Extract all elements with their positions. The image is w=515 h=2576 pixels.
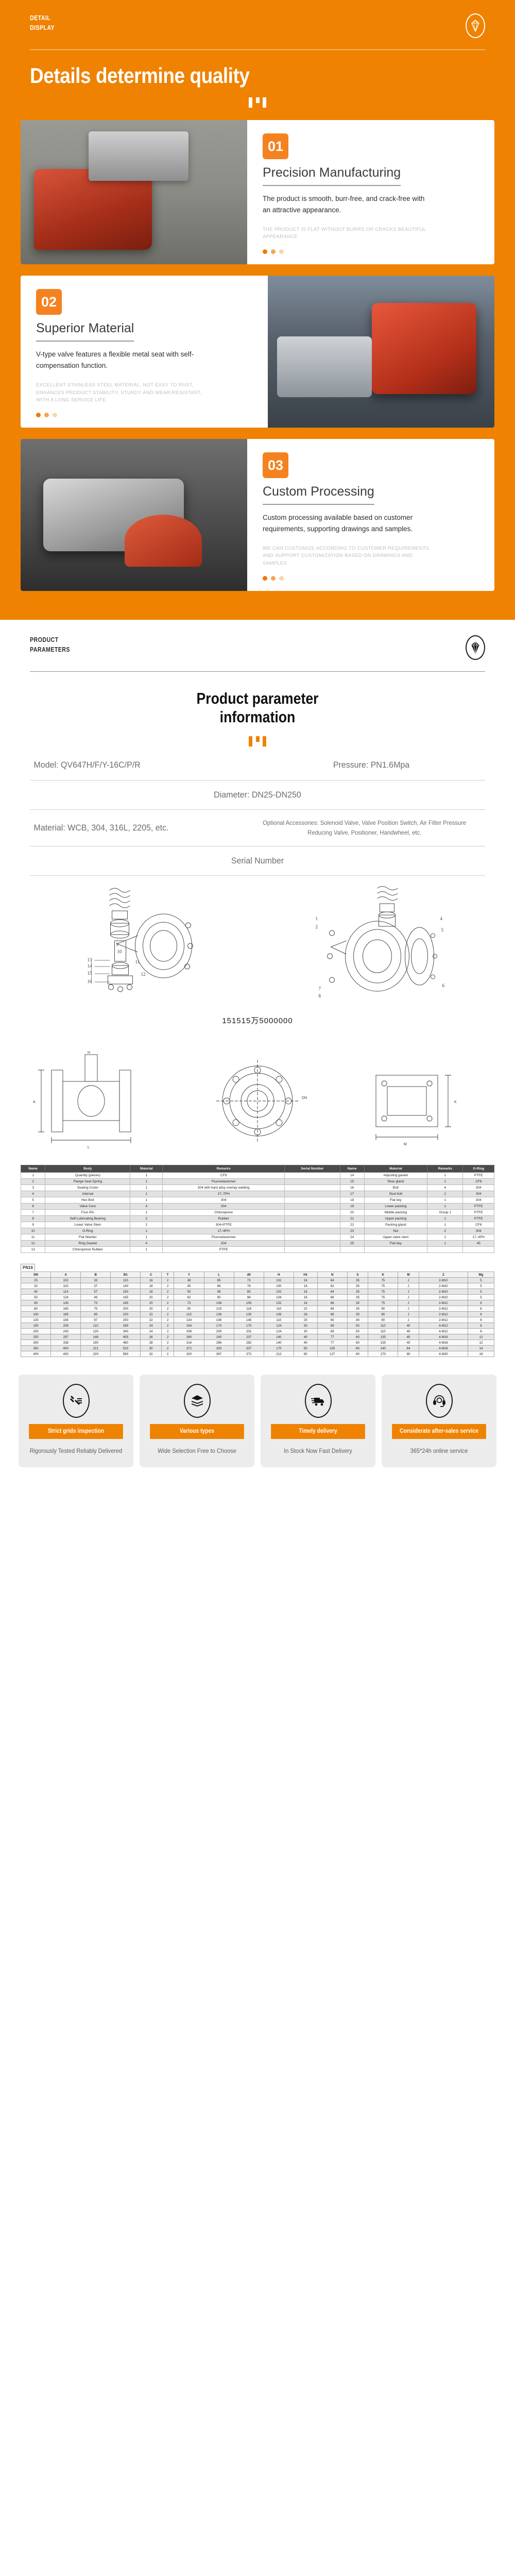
table-cell: 102 (51, 1283, 81, 1289)
table-row: 1Quantity (pieces)1CF814Adjusting gasket… (21, 1173, 494, 1179)
table-cell: 164 (174, 1323, 204, 1329)
table-row: 11Flat Washer1Fluoroelastomer24Upper val… (21, 1234, 494, 1241)
service-subtext: Wide Selection Free to Choose (149, 1446, 245, 1456)
table-cell: 1 (427, 1222, 463, 1228)
dimension-col-header: B (81, 1272, 111, 1278)
table-cell: 40 (21, 1289, 51, 1295)
table-cell: 304 (463, 1185, 494, 1191)
table-cell: J (398, 1312, 419, 1317)
svg-text:6: 6 (442, 983, 445, 988)
table-cell: CF8 (463, 1222, 494, 1228)
table-cell: 5 (468, 1283, 494, 1289)
table-cell: Rear gland (364, 1179, 427, 1185)
table-cell: 12 (468, 1334, 494, 1340)
table-cell: 18 (141, 1289, 161, 1295)
parts-table: Name Body Material Remarks Serial Number… (21, 1165, 494, 1253)
table-row: 200243120340242206200201124306950110404-… (21, 1329, 494, 1334)
table-cell: 86 (204, 1283, 234, 1289)
spec-row: Model: QV647H/F/Y-16C/P/R Pressure: PN1.… (30, 751, 485, 781)
table-cell: 2 (161, 1306, 174, 1312)
table-cell: 282 (234, 1340, 264, 1346)
table-cell: 165 (111, 1295, 141, 1300)
table-cell: 25 (340, 1241, 364, 1247)
table-cell: 145 (234, 1317, 264, 1323)
table-cell: 400 (51, 1346, 81, 1351)
dimension-table-body: 251023311516238857310216643575J2-M105321… (21, 1278, 494, 1357)
feature-description: V-type valve features a flexible metal s… (36, 349, 206, 371)
table-cell: 62 (317, 1283, 347, 1289)
params-eyebrow-line2: PARAMETERS (30, 645, 70, 655)
table-cell: 2 (161, 1295, 174, 1300)
valve-exploded-right-drawing: 12 45 678 (260, 884, 494, 1008)
table-cell: 4-M16 (419, 1346, 468, 1351)
dimension-col-header: B1 (111, 1272, 141, 1278)
table-cell: 30 (294, 1329, 317, 1334)
dimension-col-header: N (317, 1272, 347, 1278)
table-cell: 1 (130, 1179, 163, 1185)
table-cell: 5 (468, 1289, 494, 1295)
table-cell: 124 (51, 1295, 81, 1300)
hero-eyebrow: DETAIL DISPLAY (30, 13, 55, 33)
parts-table-header-row: Name Body Material Remarks Serial Number… (21, 1165, 494, 1173)
table-cell: 18 (141, 1283, 161, 1289)
table-cell: 57 (81, 1289, 111, 1295)
table-cell: Lower packing (364, 1204, 427, 1210)
table-cell: 2 (161, 1289, 174, 1295)
table-cell: 170 (368, 1351, 398, 1357)
table-cell: 304 (463, 1228, 494, 1234)
table-cell (285, 1228, 340, 1234)
table-cell (285, 1185, 340, 1191)
dimension-table-header-row: DNABB1CTYLd0HH1NSKMZMg (21, 1272, 494, 1278)
table-cell: 138 (204, 1312, 234, 1317)
table-cell: 165 (51, 1306, 81, 1312)
table-cell: 40 (294, 1334, 317, 1340)
hero-top-row: DETAIL DISPLAY (30, 13, 485, 38)
table-cell: Upper packing (364, 1216, 427, 1222)
detail-display-hero: DETAIL DISPLAY Details determine quality (0, 0, 515, 120)
table-cell: 420 (174, 1351, 204, 1357)
table-cell: Flat key (364, 1241, 427, 1247)
table-cell: 19 (340, 1204, 364, 1210)
table-cell: 520 (111, 1346, 141, 1351)
table-cell: 1 (130, 1191, 163, 1197)
table-cell: 16 (141, 1278, 161, 1283)
table-cell: 60 (294, 1351, 317, 1357)
service-tag: Considerate after-sales service (392, 1424, 486, 1439)
table-cell: 65 (21, 1300, 51, 1306)
table-cell: 35 (347, 1289, 368, 1295)
table-cell: 20 (340, 1210, 364, 1216)
table-cell: 260 (174, 1334, 204, 1340)
svg-text:11: 11 (135, 959, 140, 964)
table-cell: 304 with hard alloy overlay welding (163, 1185, 285, 1191)
table-cell: 140 (111, 1283, 141, 1289)
table-cell: 2-M10 (419, 1278, 468, 1283)
table-cell: 2 (161, 1346, 174, 1351)
table-cell: 209 (51, 1323, 81, 1329)
table-cell: Chloroprene (163, 1210, 285, 1216)
dimension-table: DNABB1CTYLd0HH1NSKMZMg 25102331151623885… (21, 1272, 494, 1357)
table-cell: 127 (317, 1351, 347, 1357)
spec-table: Model: QV647H/F/Y-16C/P/R Pressure: PN1.… (30, 751, 485, 876)
table-cell: 28 (141, 1340, 161, 1346)
dimension-col-header: A (51, 1272, 81, 1278)
table-cell: 23 (340, 1228, 364, 1234)
table-cell: Bolt (364, 1185, 427, 1191)
table-cell: 9 (21, 1222, 45, 1228)
dimension-drawings: LAH DN (0, 1031, 515, 1163)
table-row: 5Hex Bolt130418Flat key1304 (21, 1197, 494, 1204)
table-cell: 297 (51, 1334, 81, 1340)
table-cell: 2-M12 (419, 1312, 468, 1317)
table-cell: 4-M12 (419, 1329, 468, 1334)
table-cell: 20 (141, 1300, 161, 1306)
table-cell: 90 (368, 1306, 398, 1312)
parts-table-wrapper: Name Body Material Remarks Serial Number… (0, 1163, 515, 1253)
table-cell: 6 (468, 1312, 494, 1317)
table-cell: 85 (234, 1289, 264, 1295)
table-cell: 77 (317, 1334, 347, 1340)
table-cell: 140 (368, 1346, 398, 1351)
gem-icon (466, 635, 485, 660)
table-cell (340, 1247, 364, 1253)
table-cell: 110 (368, 1329, 398, 1334)
feature-card-03: 03 Custom Processing Custom processing a… (21, 439, 494, 591)
table-cell: 11 (21, 1234, 45, 1241)
table-row: 65145701852027310810510216663575J2-M126 (21, 1300, 494, 1306)
table-cell: 7 (21, 1210, 45, 1216)
table-cell: 45 (174, 1283, 204, 1289)
table-cell: CF8 (163, 1173, 285, 1179)
table-cell: Nut (364, 1228, 427, 1234)
table-cell: 200 (204, 1329, 234, 1334)
table-cell (364, 1247, 427, 1253)
table-cell: 1 (427, 1234, 463, 1241)
table-cell: 35 (347, 1295, 368, 1300)
table-cell: 6 (468, 1317, 494, 1323)
table-cell: 77 (317, 1340, 347, 1346)
table-cell (463, 1247, 494, 1253)
table-cell: 85 (204, 1278, 234, 1283)
table-cell: Self-Lubricating Bearing (45, 1216, 130, 1222)
table-cell: 250 (111, 1317, 141, 1323)
table-cell: 1 (427, 1173, 463, 1179)
parts-th-6: Material (364, 1165, 427, 1173)
table-cell: 14 (468, 1346, 494, 1351)
table-cell: 16 (294, 1295, 317, 1300)
table-cell: 20 (141, 1295, 161, 1300)
table-cell: 108 (204, 1300, 234, 1306)
feature-number-badge: 03 (263, 452, 288, 478)
table-cell: 372 (234, 1351, 264, 1357)
table-cell: 110 (368, 1323, 398, 1329)
table-cell: 102 (264, 1278, 294, 1283)
service-subtext: In Stock Now Fast Delivery (270, 1446, 366, 1456)
table-cell: 118 (234, 1306, 264, 1312)
table-cell: 69 (317, 1312, 347, 1317)
table-cell: 90 (174, 1306, 204, 1312)
table-cell: 194 (51, 1317, 81, 1323)
table-cell (285, 1216, 340, 1222)
table-cell: 90 (204, 1295, 234, 1300)
svg-text:8: 8 (319, 993, 321, 998)
table-cell: 96 (204, 1289, 234, 1295)
table-cell: 2 (427, 1191, 463, 1197)
svg-text:1: 1 (316, 916, 318, 921)
feature-number-badge: 02 (36, 289, 62, 315)
table-cell: 90 (368, 1317, 398, 1323)
table-cell: 24 (340, 1234, 364, 1241)
table-cell: 1 (427, 1241, 463, 1247)
table-cell: 13 (21, 1247, 45, 1253)
table-cell: 66 (317, 1295, 347, 1300)
table-cell: 1 (130, 1228, 163, 1234)
spec-diameter: Diameter: DN25-DN250 (44, 781, 472, 810)
table-cell: 4 (427, 1185, 463, 1191)
table-cell: 110 (264, 1317, 294, 1323)
table-cell: 5 (468, 1278, 494, 1283)
table-cell (285, 1247, 340, 1253)
table-cell: 105 (234, 1300, 264, 1306)
table-cell: 46 (81, 1295, 111, 1300)
table-row: 6Valve Core430419Lower packing1PTFE (21, 1204, 494, 1210)
table-cell: 2-M10 (419, 1283, 468, 1289)
table-cell: 104 (264, 1295, 294, 1300)
table-cell: 1 (427, 1179, 463, 1185)
table-row: 12Ring Gasket430425Flat key145 (21, 1241, 494, 1247)
table-cell: Packing gland (364, 1222, 427, 1228)
table-cell: 25 (21, 1278, 51, 1283)
table-cell (285, 1210, 340, 1216)
table-cell: 2 (21, 1179, 45, 1185)
svg-text:K: K (454, 1100, 457, 1104)
feature-dots (263, 249, 481, 254)
table-row: 10O-Ring117–4PH23Nut2304 (21, 1228, 494, 1234)
table-cell: 40 (294, 1340, 317, 1346)
table-row: 9Lower Valve Stem2304+PTFE22Packing glan… (21, 1222, 494, 1228)
delivery-truck-icon (305, 1384, 332, 1418)
table-cell: 2-M12 (419, 1306, 468, 1312)
table-cell: 170 (204, 1323, 234, 1329)
svg-text:7: 7 (319, 986, 321, 991)
table-cell: Flat key (364, 1197, 427, 1204)
parts-th-5: Name (340, 1165, 364, 1173)
table-cell: 124 (264, 1323, 294, 1329)
table-cell: CF8 (463, 1179, 494, 1185)
table-cell: 460 (111, 1340, 141, 1346)
feature-text-01: 01 Precision Manufacturing The product i… (247, 120, 494, 264)
table-cell: 372 (174, 1346, 204, 1351)
feature-number-badge: 01 (263, 133, 288, 159)
table-cell (285, 1204, 340, 1210)
table-cell: 16 (294, 1300, 317, 1306)
table-cell: J (398, 1283, 419, 1289)
feature-card-02: 02 Superior Material V-type valve featur… (21, 276, 494, 428)
table-cell: 62 (174, 1295, 204, 1300)
table-cell: 102 (51, 1278, 81, 1283)
service-tag: Various types (150, 1424, 244, 1439)
table-cell: 304 (463, 1197, 494, 1204)
svg-text:12: 12 (141, 972, 146, 977)
table-cell: 4-M12 (419, 1323, 468, 1329)
hero-eyebrow-line2: DISPLAY (30, 23, 55, 33)
service-card-types: Various types Wide Selection Free to Cho… (140, 1375, 254, 1467)
params-eyebrow: PRODUCT PARAMETERS (30, 635, 70, 655)
table-cell: 33 (81, 1278, 111, 1283)
table-cell: 24 (141, 1323, 161, 1329)
table-row: 3Sealing Cover1304 with hard alloy overl… (21, 1185, 494, 1191)
svg-text:DN: DN (302, 1096, 307, 1100)
table-cell: 17 (340, 1191, 364, 1197)
table-cell: Adjusting gasket (364, 1173, 427, 1179)
feature-dots (263, 576, 481, 581)
table-cell: 4 (21, 1191, 45, 1197)
dimension-col-header: K (368, 1272, 398, 1278)
table-cell: 201 (234, 1329, 264, 1334)
table-cell: 75 (81, 1306, 111, 1312)
dimension-col-header: Mg (468, 1272, 494, 1278)
table-cell: 8 (468, 1323, 494, 1329)
parts-th-2: Material (130, 1165, 163, 1173)
table-cell: 4 (130, 1204, 163, 1210)
service-subtext: Rigorously Tested Reliably Delivered (28, 1446, 124, 1456)
table-row: 1001858522022211513813010828693590J2-M12… (21, 1312, 494, 1317)
table-cell: Ring Gasket (45, 1241, 130, 1247)
table-cell: 96 (234, 1295, 264, 1300)
exploded-drawings: 910 1314 1516 1112 (0, 876, 515, 1008)
table-cell: Sealing Cover (45, 1185, 130, 1191)
dimension-col-header: d0 (234, 1272, 264, 1278)
feature-dots (36, 413, 254, 417)
table-cell: 69 (317, 1306, 347, 1312)
dimension-table-label: PN16 (21, 1264, 35, 1271)
table-cell: 75 (368, 1289, 398, 1295)
table-cell: 220 (81, 1351, 111, 1357)
params-divider (30, 671, 485, 672)
table-cell: 14 (340, 1173, 364, 1179)
table-cell: Rubber (163, 1216, 285, 1222)
table-cell: 80 (21, 1306, 51, 1312)
table-cell: 123 (204, 1306, 234, 1312)
table-cell: 150 (111, 1289, 141, 1295)
table-cell: 148 (204, 1317, 234, 1323)
table-cell: 286 (204, 1340, 234, 1346)
table-row: 300338190460282316286282140407760135404-… (21, 1340, 494, 1346)
table-cell: 40 (398, 1329, 419, 1334)
table-cell: 4-M16 (419, 1334, 468, 1340)
table-cell: 100 (21, 1312, 51, 1317)
table-cell: 185 (111, 1300, 141, 1306)
feature-description: The product is smooth, burr-free, and cr… (263, 193, 433, 216)
table-cell: 75 (368, 1278, 398, 1283)
table-cell: Hex Bolt (45, 1197, 130, 1204)
table-cell: J (398, 1306, 419, 1312)
table-cell: 26 (141, 1334, 161, 1340)
table-cell (285, 1222, 340, 1228)
table-cell: 16 (294, 1283, 317, 1289)
params-tri-mark (249, 736, 266, 747)
service-card-support: Considerate after-sales service 365*24h … (382, 1375, 496, 1467)
table-cell: 190 (81, 1340, 111, 1346)
table-cell: PTFE (463, 1173, 494, 1179)
table-cell: 30 (294, 1323, 317, 1329)
table-cell: J (398, 1278, 419, 1283)
table-cell: 18 (340, 1197, 364, 1204)
table-cell: 304 (463, 1191, 494, 1197)
spec-pressure: Pressure: PN1.6Mpa (264, 751, 478, 780)
table-row: 501244616520262909610416663575J2-M105 (21, 1295, 494, 1300)
hero-tri-mark (249, 97, 266, 108)
table-cell: 18 (468, 1351, 494, 1357)
table-cell: 2-M12 (419, 1300, 468, 1306)
page-title: Details determine quality (30, 63, 431, 88)
table-cell: PTFE (463, 1204, 494, 1210)
table-cell: 60 (317, 1317, 347, 1323)
table-cell: 2 (130, 1222, 163, 1228)
table-cell: 75 (368, 1300, 398, 1306)
table-cell: 124 (264, 1329, 294, 1334)
table-cell: 304 (163, 1204, 285, 1210)
table-cell: 38 (174, 1278, 204, 1283)
table-cell: 70 (81, 1300, 111, 1306)
table-cell: Stud bolt (364, 1191, 427, 1197)
table-cell: 50 (174, 1289, 204, 1295)
table-cell: 243 (51, 1329, 81, 1334)
table-cell: 1 (130, 1234, 163, 1241)
table-cell: 2 (161, 1283, 174, 1289)
table-row: 8Self-Lubricating Bearing2Rubber21Upper … (21, 1216, 494, 1222)
table-cell: Internal (45, 1191, 130, 1197)
parts-th-8: O-Ring (463, 1165, 494, 1173)
table-cell: 50 (21, 1295, 51, 1300)
table-cell: 37 (81, 1283, 111, 1289)
table-row: 250297148405262260240237140407760135404-… (21, 1334, 494, 1340)
table-cell: 200 (21, 1329, 51, 1334)
table-cell: 316 (174, 1340, 204, 1346)
feature-cards-section: 01 Precision Manufacturing The product i… (0, 120, 515, 620)
table-cell: 115 (174, 1312, 204, 1317)
table-row: 2Flange Seat Spring1Fluoroelastomer15Rea… (21, 1179, 494, 1185)
table-cell: 135 (368, 1334, 398, 1340)
table-cell: 80 (398, 1351, 419, 1357)
table-cell: 2 (161, 1351, 174, 1357)
table-cell: 35 (347, 1278, 368, 1283)
hero-divider (30, 49, 485, 50)
table-cell: 50 (294, 1346, 317, 1351)
table-cell: 102 (264, 1289, 294, 1295)
parts-th-1: Body (45, 1165, 130, 1173)
table-cell (285, 1197, 340, 1204)
table-cell: 10 (21, 1228, 45, 1234)
table-cell (285, 1173, 340, 1179)
table-cell (427, 1247, 463, 1253)
table-cell: 50 (347, 1329, 368, 1334)
table-cell: 400 (51, 1351, 81, 1357)
table-cell: 110 (81, 1323, 111, 1329)
table-cell: 17–7PH (163, 1191, 285, 1197)
table-cell: 16 (340, 1185, 364, 1191)
table-cell: 2 (161, 1317, 174, 1323)
dimension-col-header: Y (174, 1272, 204, 1278)
table-cell: 105 (317, 1346, 347, 1351)
table-cell: J (398, 1317, 419, 1323)
table-cell: 2 (427, 1228, 463, 1234)
table-row: 4004002205803224203673722126012780170804… (21, 1351, 494, 1357)
feature-photo-01 (21, 120, 247, 264)
table-cell: 75 (368, 1283, 398, 1289)
table-cell: 1 (21, 1173, 45, 1179)
